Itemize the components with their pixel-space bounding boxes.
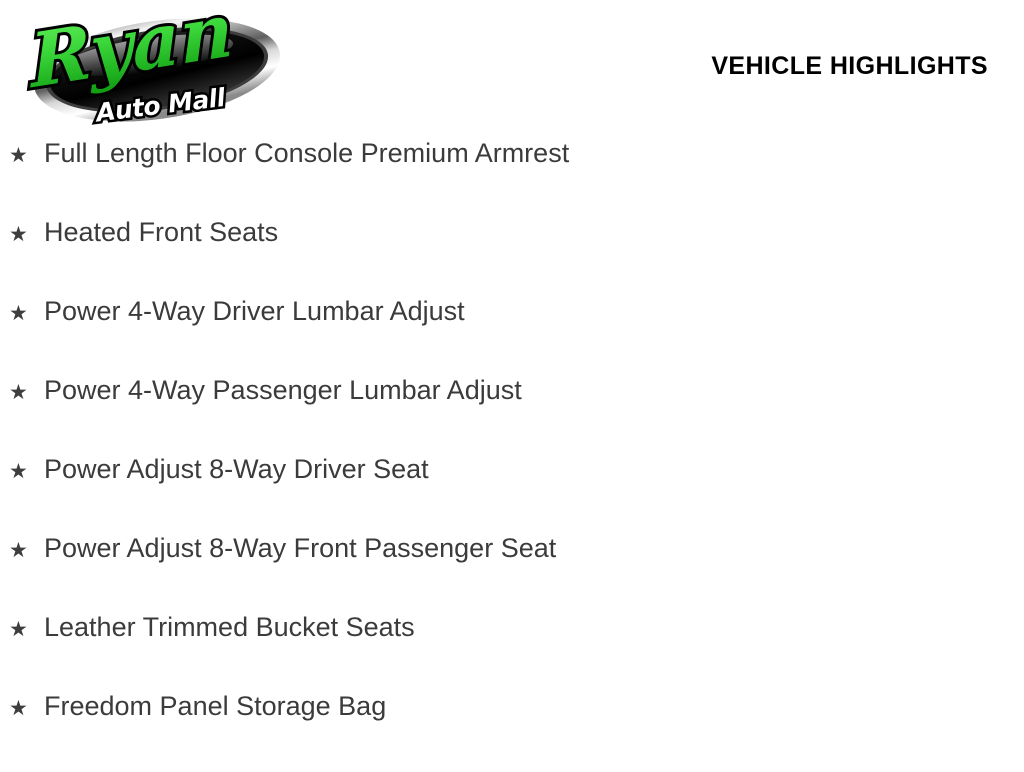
star-icon: ★ <box>9 619 44 640</box>
ryan-auto-mall-logo-graphic: Ryan Auto Mall <box>18 8 296 126</box>
page-header: Ryan Auto Mall Ryan Auto Mall VEHICLE HI… <box>0 0 1024 140</box>
list-item: ★ Heated Front Seats <box>0 219 1024 298</box>
highlight-label: Heated Front Seats <box>44 219 1024 246</box>
logo-alt-text: Ryan Auto Mall <box>18 126 19 127</box>
star-icon: ★ <box>9 303 44 324</box>
list-item: ★ Full Length Floor Console Premium Armr… <box>0 140 1024 219</box>
highlight-label: Power 4-Way Passenger Lumbar Adjust <box>44 377 1024 404</box>
star-icon: ★ <box>9 540 44 561</box>
list-item: ★ Freedom Panel Storage Bag <box>0 693 1024 772</box>
list-item: ★ Power Adjust 8-Way Front Passenger Sea… <box>0 535 1024 614</box>
page-title: VEHICLE HIGHLIGHTS <box>711 52 988 81</box>
list-item: ★ Power Adjust 8-Way Driver Seat <box>0 456 1024 535</box>
star-icon: ★ <box>9 461 44 482</box>
star-icon: ★ <box>9 145 44 166</box>
list-item: ★ Power 4-Way Driver Lumbar Adjust <box>0 298 1024 377</box>
list-item: ★ Leather Trimmed Bucket Seats <box>0 614 1024 693</box>
star-icon: ★ <box>9 698 44 719</box>
highlight-label: Power 4-Way Driver Lumbar Adjust <box>44 298 1024 325</box>
highlight-label: Leather Trimmed Bucket Seats <box>44 614 1024 641</box>
star-icon: ★ <box>9 224 44 245</box>
vehicle-highlights-list: ★ Full Length Floor Console Premium Armr… <box>0 140 1024 772</box>
star-icon: ★ <box>9 382 44 403</box>
ryan-auto-mall-logo[interactable]: Ryan Auto Mall Ryan Auto Mall <box>18 8 296 126</box>
highlight-label: Freedom Panel Storage Bag <box>44 693 1024 720</box>
highlight-label: Power Adjust 8-Way Driver Seat <box>44 456 1024 483</box>
highlight-label: Full Length Floor Console Premium Armres… <box>44 140 1024 167</box>
highlight-label: Power Adjust 8-Way Front Passenger Seat <box>44 535 1024 562</box>
vehicle-highlights-page: Ryan Auto Mall Ryan Auto Mall VEHICLE HI… <box>0 0 1024 768</box>
list-item: ★ Power 4-Way Passenger Lumbar Adjust <box>0 377 1024 456</box>
